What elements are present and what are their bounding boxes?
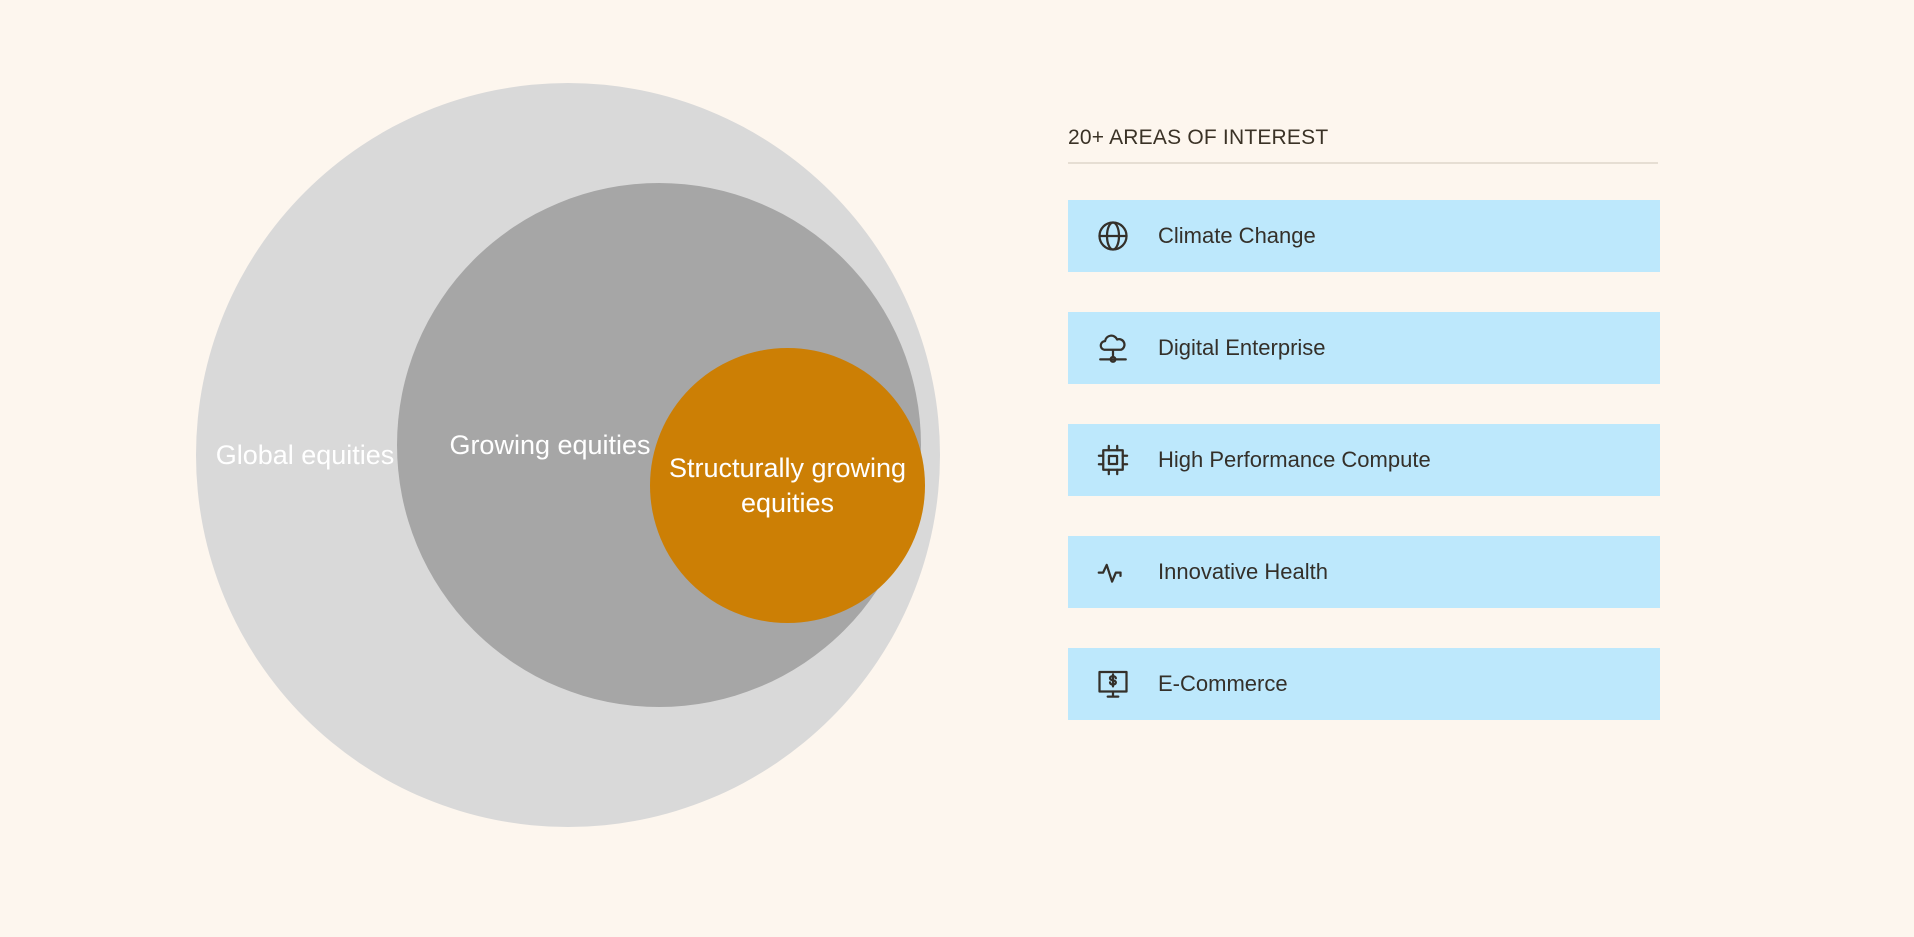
heading-divider <box>1068 162 1658 164</box>
cpu-chip-icon <box>1090 437 1136 483</box>
venn-label-growing-equities: Growing equities <box>415 428 685 462</box>
area-row-climate-change[interactable]: Climate Change <box>1068 200 1660 272</box>
venn-circle-structurally-growing-equities: Structurally growing equities <box>650 348 925 623</box>
area-label: High Performance Compute <box>1158 447 1431 473</box>
monitor-dollar-icon <box>1090 661 1136 707</box>
area-row-innovative-health[interactable]: Innovative Health <box>1068 536 1660 608</box>
venn-label-structurally-growing-equities: Structurally growing equities <box>663 451 913 520</box>
areas-of-interest-heading: 20+ AREAS OF INTEREST <box>1068 126 1660 162</box>
venn-diagram: Global equities Growing equities Structu… <box>0 0 1040 937</box>
heartbeat-pulse-icon <box>1090 549 1136 595</box>
areas-of-interest-panel: 20+ AREAS OF INTEREST Climate Change Dig… <box>1068 126 1660 720</box>
globe-icon <box>1090 213 1136 259</box>
area-row-digital-enterprise[interactable]: Digital Enterprise <box>1068 312 1660 384</box>
area-label: Digital Enterprise <box>1158 335 1326 361</box>
area-row-e-commerce[interactable]: E-Commerce <box>1068 648 1660 720</box>
area-label: Innovative Health <box>1158 559 1328 585</box>
area-label: E-Commerce <box>1158 671 1288 697</box>
area-row-high-performance-compute[interactable]: High Performance Compute <box>1068 424 1660 496</box>
cloud-network-icon <box>1090 325 1136 371</box>
area-label: Climate Change <box>1158 223 1316 249</box>
venn-label-global-equities: Global equities <box>210 438 400 472</box>
